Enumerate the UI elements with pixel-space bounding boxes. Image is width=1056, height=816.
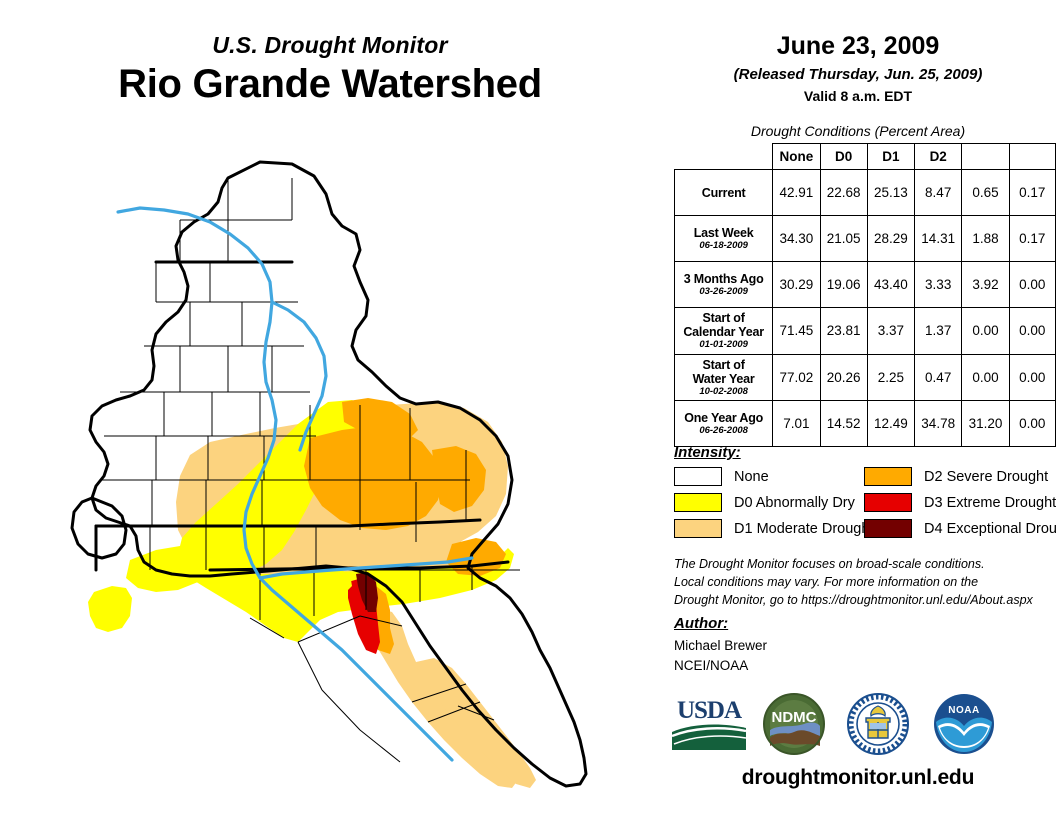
cell-d4: 0.17 (1009, 170, 1055, 216)
cell-d2: 0.47 (915, 354, 962, 401)
cell-d2: 3.33 (915, 262, 962, 308)
author-heading: Author: (674, 615, 728, 632)
region-d0-far-west (88, 586, 132, 632)
author-name: Michael Brewer (674, 636, 767, 656)
note-line-2: Local conditions may vary. For more info… (674, 574, 1056, 592)
cell-d4: 0.00 (1009, 262, 1055, 308)
valid-time: Valid 8 a.m. EDT (660, 88, 1056, 104)
cell-d2: 14.31 (915, 216, 962, 262)
cell-none: 30.29 (773, 262, 820, 308)
row-date: 06-26-2008 (677, 426, 770, 437)
cell-d2: 1.37 (915, 308, 962, 355)
release-date: (Released Thursday, Jun. 25, 2009) (660, 66, 1056, 83)
column-header-d1: D1 (867, 144, 914, 170)
column-header-d4: D4 (1009, 144, 1055, 170)
table-row: Start ofCalendar Year01-01-200971.4523.8… (675, 308, 1056, 355)
legend-swatch-none (674, 467, 722, 486)
map-subtitle: U.S. Drought Monitor (0, 32, 660, 59)
row-date: 06-18-2009 (677, 241, 770, 252)
table-row: Last Week06-18-200934.3021.0528.2914.311… (675, 216, 1056, 262)
doc-seal-logo (846, 692, 910, 756)
cell-d3: 0.00 (962, 354, 1009, 401)
legend-swatch-d0 (674, 493, 722, 512)
cell-d0: 21.05 (820, 216, 867, 262)
usda-logo: USDA (670, 692, 748, 754)
cell-d4: 0.00 (1009, 354, 1055, 401)
column-header-none: None (773, 144, 820, 170)
column-header-d2: D2 (915, 144, 962, 170)
cell-d0: 14.52 (820, 401, 867, 447)
row-label: One Year Ago06-26-2008 (675, 401, 773, 447)
noaa-logo: NOAA (932, 692, 996, 756)
legend-label-d4: D4 Exceptional Drought (924, 521, 1056, 537)
cell-d1: 12.49 (867, 401, 914, 447)
note-line-3: Drought Monitor, go to https://droughtmo… (674, 592, 1056, 610)
legend-swatch-d4 (864, 519, 912, 538)
row-label: Current (675, 170, 773, 216)
legend-label-d0: D0 Abnormally Dry (734, 495, 855, 511)
author-affiliation: NCEI/NOAA (674, 656, 767, 676)
cell-d4: 0.00 (1009, 401, 1055, 447)
svg-text:NOAA: NOAA (948, 705, 979, 716)
cell-d1: 28.29 (867, 216, 914, 262)
cell-none: 42.91 (773, 170, 820, 216)
legend-label-none: None (734, 469, 769, 485)
intensity-heading: Intensity: (674, 444, 741, 461)
cell-d3: 3.92 (962, 262, 1009, 308)
logo-row: USDA NDMC (660, 692, 1056, 762)
row-date: 01-01-2009 (677, 340, 770, 351)
legend-swatch-d3 (864, 493, 912, 512)
footer-url[interactable]: droughtmonitor.unl.edu (660, 766, 1056, 790)
cell-d3: 0.00 (962, 308, 1009, 355)
table-row: Current42.9122.6825.138.470.650.17 (675, 170, 1056, 216)
legend-label-d3: D3 Extreme Drought (924, 495, 1056, 511)
legend-swatch-d1 (674, 519, 722, 538)
cell-d0: 22.68 (820, 170, 867, 216)
row-date: 10-02-2008 (677, 387, 770, 398)
info-panel: June 23, 2009 (Released Thursday, Jun. 2… (660, 0, 1056, 816)
svg-text:NDMC: NDMC (772, 709, 817, 726)
cell-d1: 2.25 (867, 354, 914, 401)
cell-none: 34.30 (773, 216, 820, 262)
disclaimer-note: The Drought Monitor focuses on broad-sca… (674, 556, 1056, 609)
cell-none: 71.45 (773, 308, 820, 355)
row-label: Start ofCalendar Year01-01-2009 (675, 308, 773, 355)
svg-text:USDA: USDA (677, 697, 742, 724)
cell-d3: 31.20 (962, 401, 1009, 447)
drought-map[interactable] (60, 150, 620, 800)
cell-d0: 20.26 (820, 354, 867, 401)
map-panel: U.S. Drought Monitor Rio Grande Watershe… (0, 0, 660, 816)
table-caption: Drought Conditions (Percent Area) (660, 123, 1056, 139)
drought-conditions-table: None D0 D1 D2 D3 D4 Current42.9122.6825.… (674, 143, 1056, 447)
legend-label-d1: D1 Moderate Drought (734, 521, 873, 537)
cell-none: 7.01 (773, 401, 820, 447)
table-header-row: None D0 D1 D2 D3 D4 (675, 144, 1056, 170)
page-title: Rio Grande Watershed (0, 62, 660, 107)
column-header-d3: D3 (962, 144, 1009, 170)
cell-d1: 25.13 (867, 170, 914, 216)
row-date: 03-26-2009 (677, 287, 770, 298)
cell-d4: 0.00 (1009, 308, 1055, 355)
legend-label-d2: D2 Severe Drought (924, 469, 1048, 485)
table-row: One Year Ago06-26-20087.0114.5212.4934.7… (675, 401, 1056, 447)
note-line-1: The Drought Monitor focuses on broad-sca… (674, 556, 1056, 574)
cell-d2: 34.78 (915, 401, 962, 447)
legend-item-d2: D2 Severe Drought (864, 466, 1048, 487)
cell-d2: 8.47 (915, 170, 962, 216)
table-corner-cell (675, 144, 773, 170)
cell-d1: 3.37 (867, 308, 914, 355)
row-label: 3 Months Ago03-26-2009 (675, 262, 773, 308)
legend-swatch-d2 (864, 467, 912, 486)
report-date: June 23, 2009 (660, 32, 1056, 61)
legend-item-d3: D3 Extreme Drought (864, 492, 1056, 513)
table-row: Start ofWater Year10-02-200877.0220.262.… (675, 354, 1056, 401)
column-header-d0: D0 (820, 144, 867, 170)
cell-none: 77.02 (773, 354, 820, 401)
cell-d0: 19.06 (820, 262, 867, 308)
cell-d0: 23.81 (820, 308, 867, 355)
cell-d4: 0.17 (1009, 216, 1055, 262)
row-label: Last Week06-18-2009 (675, 216, 773, 262)
legend-item-d1: D1 Moderate Drought (674, 518, 873, 539)
row-label: Start ofWater Year10-02-2008 (675, 354, 773, 401)
cell-d1: 43.40 (867, 262, 914, 308)
legend-item-d0: D0 Abnormally Dry (674, 492, 855, 513)
legend-item-d4: D4 Exceptional Drought (864, 518, 1056, 539)
legend-item-none: None (674, 466, 769, 487)
author-block: Michael Brewer NCEI/NOAA (674, 636, 767, 675)
cell-d3: 1.88 (962, 216, 1009, 262)
ndmc-logo: NDMC (762, 692, 826, 756)
cell-d3: 0.65 (962, 170, 1009, 216)
table-row: 3 Months Ago03-26-200930.2919.0643.403.3… (675, 262, 1056, 308)
